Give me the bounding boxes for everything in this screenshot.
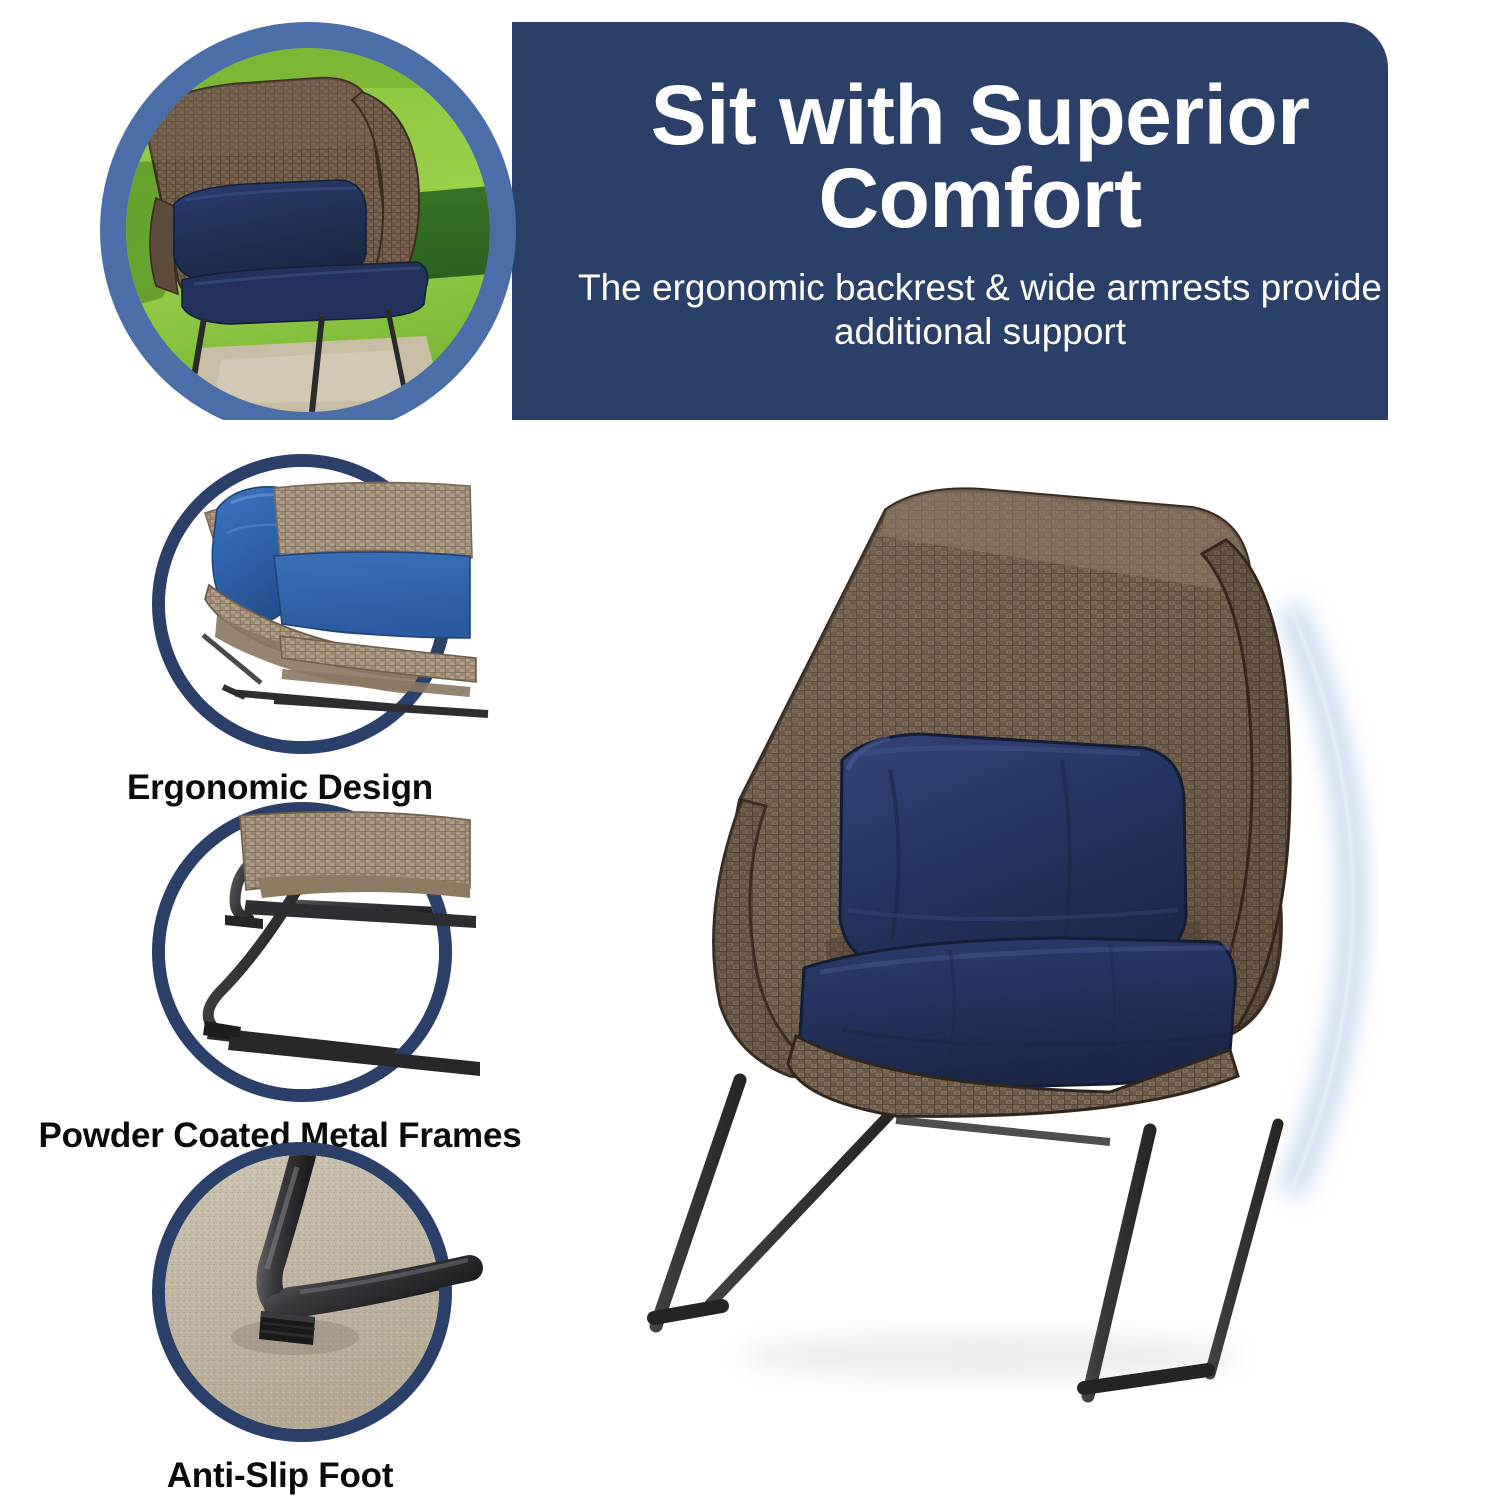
main-chair-illustration (590, 470, 1450, 1420)
feature-photo-anti-slip-foot (165, 1155, 439, 1429)
header-banner: Sit with Superior Comfort The ergonomic … (100, 22, 1388, 420)
hero-chair-illustration (126, 48, 490, 412)
feature-ergonomic-design: Ergonomic Design (0, 452, 560, 808)
feature-photo-powder-coated-metal-frames (165, 815, 439, 1089)
feature-figure (0, 1140, 560, 1450)
feature-figure (0, 800, 560, 1110)
feature-anti-slip-foot: Anti-Slip Foot (0, 1140, 560, 1496)
page-title: Sit with Superior Comfort (572, 74, 1388, 240)
hero-circle-inset (100, 22, 520, 420)
main-product-image (590, 470, 1450, 1420)
lumbar-pillow (840, 734, 1186, 968)
banner-text-block: Sit with Superior Comfort The ergonomic … (572, 74, 1388, 353)
metal-frame-illustration (165, 815, 439, 1089)
page-subtitle: The ergonomic backrest & wide armrests p… (572, 266, 1388, 353)
hero-chair-photo (126, 48, 490, 412)
accent-arc (1290, 606, 1353, 1194)
feature-figure (0, 452, 560, 762)
anti-slip-foot-illustration (165, 1155, 439, 1429)
feature-photo-ergonomic-design (165, 467, 439, 741)
feature-powder-coated-metal-frames: Powder Coated Metal Frames (0, 800, 560, 1156)
ergonomic-design-illustration (165, 467, 439, 741)
feature-label: Anti-Slip Foot (0, 1456, 560, 1496)
